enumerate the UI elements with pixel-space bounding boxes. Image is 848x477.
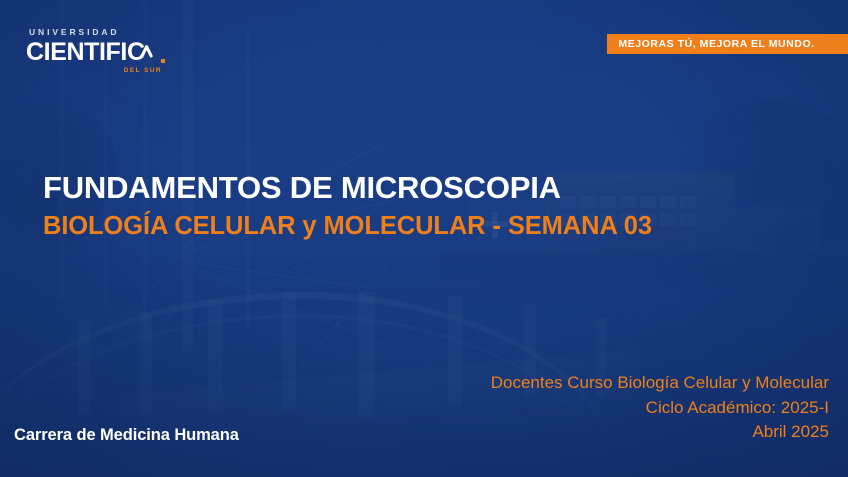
slide-content: UNIVERSIDAD CIENTIFIC DEL SUR MEJORAS TÚ…	[0, 0, 848, 477]
page-subtitle: BIOLOGÍA CELULAR y MOLECULAR - SEMANA 03	[43, 212, 652, 240]
logo-sub-line: DEL SUR	[26, 67, 176, 74]
meta-instructors: Docentes Curso Biología Celular y Molecu…	[491, 371, 829, 396]
title-block: FUNDAMENTOS DE MICROSCOPIA BIOLOGÍA CELU…	[43, 172, 652, 240]
meta-academic-cycle: Ciclo Académico: 2025-I	[491, 396, 829, 421]
presentation-slide: UNIVERSIDAD CIENTIFIC DEL SUR MEJORAS TÚ…	[0, 0, 848, 477]
meta-date: Abril 2025	[491, 420, 829, 445]
brand-tagline-banner: MEJORAS TÚ, MEJORA EL MUNDO.	[607, 34, 848, 54]
logo-name-text: CIENTIFIC	[26, 40, 145, 65]
logo-top-line: UNIVERSIDAD	[29, 28, 176, 37]
logo-wordmark: CIENTIFIC	[26, 40, 176, 65]
chevron-arrow-mark-icon	[146, 43, 163, 65]
career-label: Carrera de Medicina Humana	[14, 426, 239, 445]
course-meta-block: Docentes Curso Biología Celular y Molecu…	[491, 371, 829, 445]
logo-accent-dot-icon	[161, 59, 165, 63]
university-logo: UNIVERSIDAD CIENTIFIC DEL SUR	[26, 28, 176, 74]
page-title: FUNDAMENTOS DE MICROSCOPIA	[43, 172, 652, 205]
